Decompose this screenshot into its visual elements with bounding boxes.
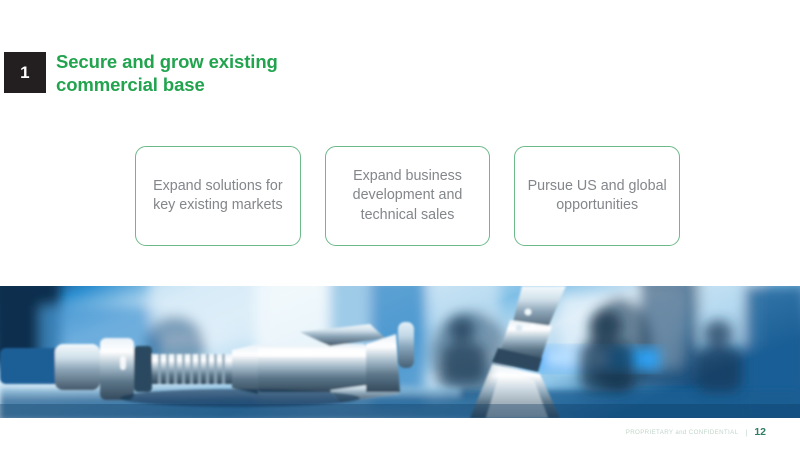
- page-title: Secure and grow existing commercial base: [56, 50, 476, 96]
- page-title-line-2: commercial base: [56, 73, 476, 96]
- section-number-badge: 1: [4, 52, 46, 93]
- initiative-card-3-label: Pursue US and global opportunities: [525, 177, 669, 216]
- page-number: 12: [754, 426, 766, 438]
- initiative-card-2-label: Expand business development and technica…: [336, 167, 480, 226]
- industrial-photo-band: [0, 286, 800, 418]
- section-number-label: 1: [20, 63, 30, 83]
- initiative-card-3: Pursue US and global opportunities: [514, 146, 680, 246]
- confidentiality-notice: PROPRIETARY and CONFIDENTIAL: [626, 429, 739, 436]
- slide-footer: PROPRIETARY and CONFIDENTIAL | 12: [626, 424, 766, 440]
- initiative-card-1: Expand solutions for key existing market…: [135, 146, 301, 246]
- page-title-line-1: Secure and grow existing: [56, 50, 476, 73]
- footer-separator: |: [745, 428, 747, 437]
- initiative-card-row: Expand solutions for key existing market…: [135, 146, 680, 248]
- initiative-card-2: Expand business development and technica…: [325, 146, 491, 246]
- industrial-photo-illustration: [0, 286, 800, 418]
- slide-header: 1 Secure and grow existing commercial ba…: [0, 0, 800, 130]
- initiative-card-1-label: Expand solutions for key existing market…: [146, 177, 290, 216]
